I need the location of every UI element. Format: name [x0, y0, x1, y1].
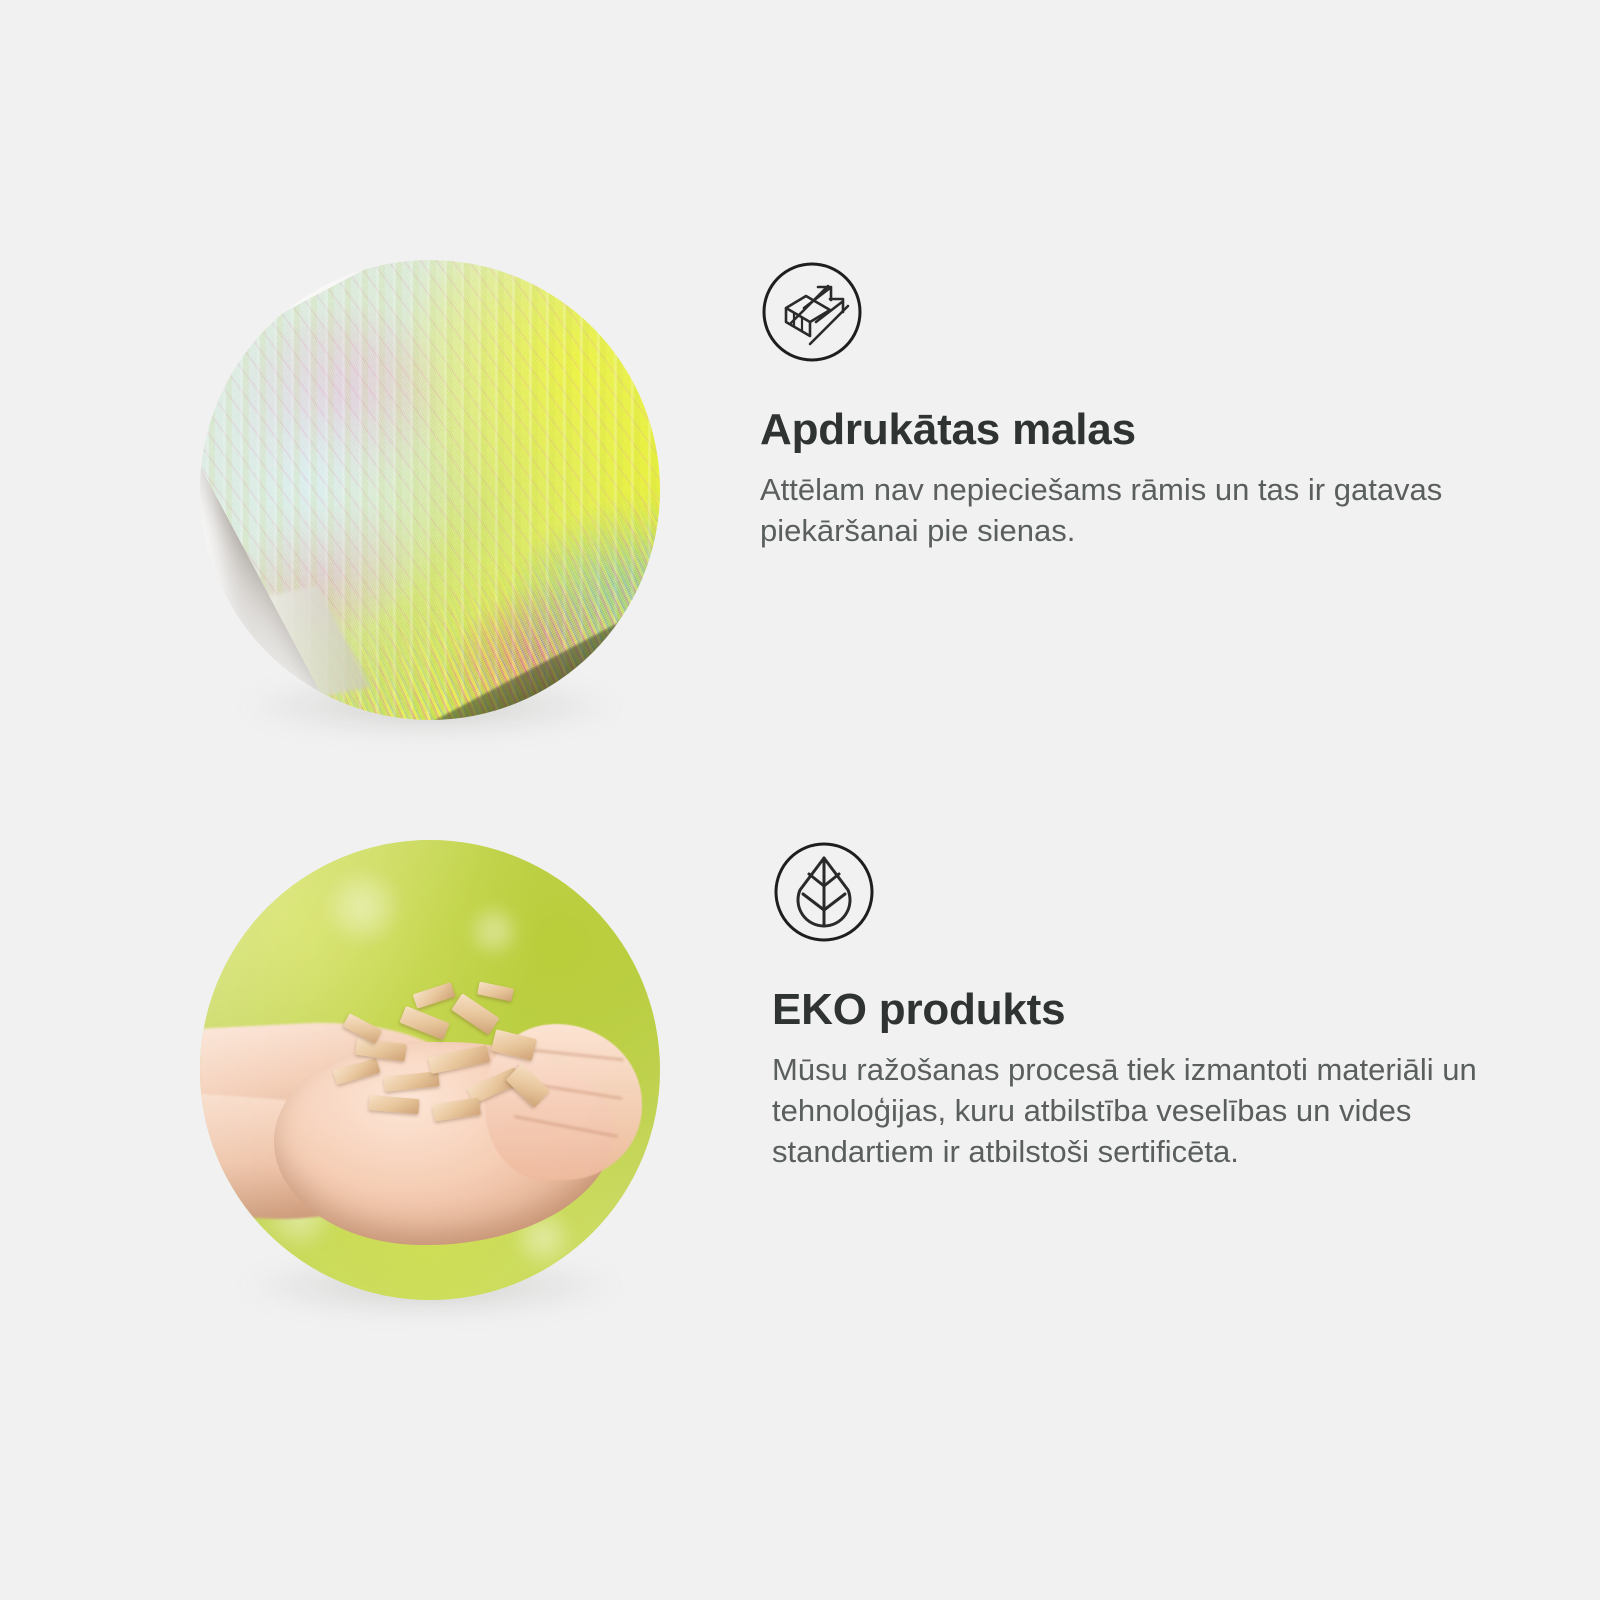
- wood-chip: [452, 994, 500, 1035]
- bokeh-light: [467, 904, 521, 958]
- printed-edges-text-column: Apdrukātas malas Attēlam nav nepieciešam…: [760, 260, 1600, 552]
- feature-title: EKO produkts: [772, 986, 1600, 1034]
- eco-product-text-column: EKO produkts Mūsu ražošanas procesā tiek…: [760, 840, 1600, 1173]
- photo-circle-mask: [200, 840, 660, 1300]
- wood-chip: [477, 981, 514, 1001]
- feature-title: Apdrukātas malas: [760, 406, 1600, 454]
- canvas-corner-photo: [200, 260, 660, 720]
- feature-description: Mūsu ražošanas procesā tiek izmantoti ma…: [772, 1050, 1492, 1173]
- wood-chip: [432, 1097, 481, 1121]
- wood-chip: [427, 1045, 489, 1074]
- photo-circle-mask: [200, 260, 660, 720]
- hands-with-wood-chips-photo: [200, 840, 660, 1300]
- eco-photo-image: [200, 840, 660, 1300]
- feature-description: Attēlam nav nepieciešams rāmis un tas ir…: [760, 470, 1460, 552]
- wood-chip: [412, 982, 454, 1008]
- feature-eco-product: EKO produkts Mūsu ražošanas procesā tiek…: [0, 840, 1600, 1300]
- wood-chip: [491, 1030, 537, 1061]
- wood-chip: [383, 1071, 439, 1092]
- wrapped-edge-arrows-icon: [760, 260, 864, 364]
- wood-chip: [399, 1006, 450, 1041]
- feature-printed-edges: Apdrukātas malas Attēlam nav nepieciešam…: [0, 260, 1600, 720]
- bokeh-light: [324, 868, 402, 946]
- wood-chip: [356, 1038, 407, 1061]
- leaf-icon: [772, 840, 876, 944]
- wood-chip: [333, 1058, 380, 1085]
- wood-chip-pile: [324, 978, 572, 1144]
- canvas-corner-image: [200, 260, 660, 720]
- wood-chip: [368, 1095, 419, 1114]
